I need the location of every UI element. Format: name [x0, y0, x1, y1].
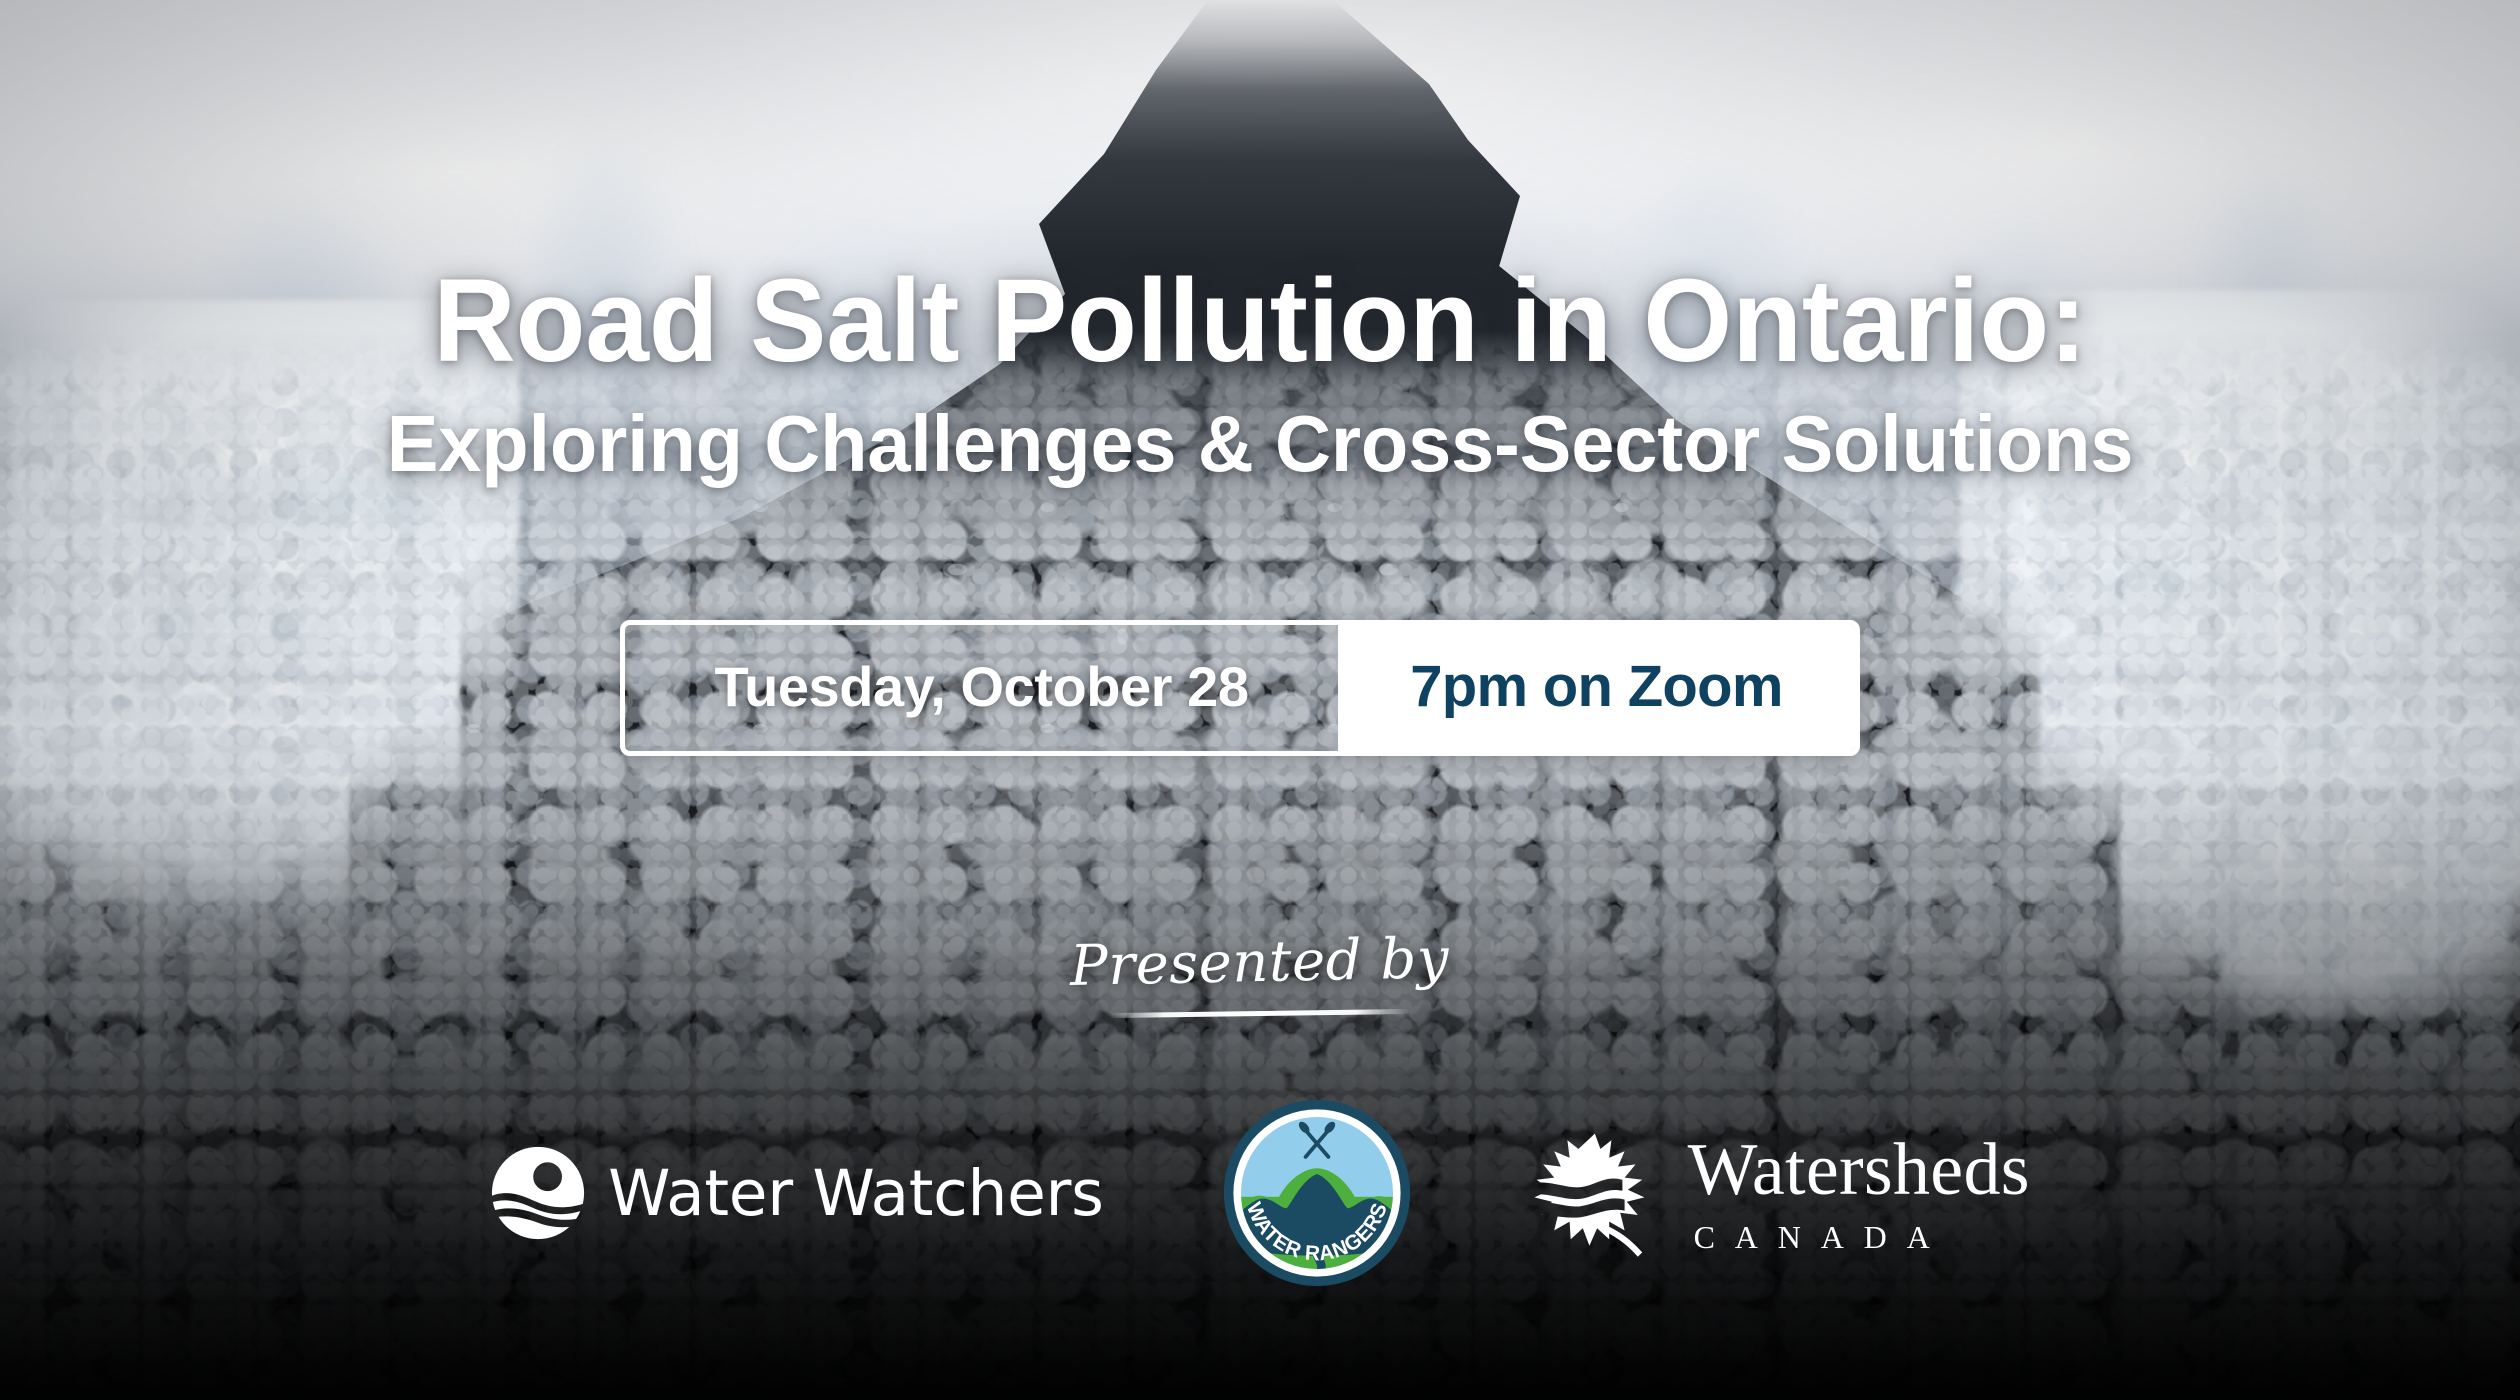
logo-watersheds-canada: Watersheds CANADA — [1530, 1127, 2030, 1259]
watersheds-canada-wordmark: Watersheds CANADA — [1688, 1133, 2030, 1253]
presented-by-block: Presented by — [0, 930, 2520, 1016]
logo-canada-label: CANADA — [1694, 1221, 1950, 1253]
watersheds-canada-maple-leaf-icon — [1530, 1127, 1662, 1259]
poster-content: Road Salt Pollution in Ontario: Explorin… — [0, 0, 2520, 1400]
event-time: 7pm on Zoom — [1338, 625, 1855, 751]
event-date: Tuesday, October 28 — [625, 625, 1338, 751]
headline-secondary: Exploring Challenges & Cross-Sector Solu… — [38, 404, 2482, 484]
logo-watersheds-label: Watersheds — [1688, 1133, 2030, 1207]
logo-water-watchers-label: Water Watchers — [608, 1157, 1103, 1230]
water-watchers-circle-wave-icon — [490, 1145, 586, 1241]
event-details-banner: Tuesday, October 28 7pm on Zoom — [620, 620, 1860, 756]
presented-by-underline — [1110, 1009, 1410, 1018]
partner-logos-row: Water Watchers — [0, 1098, 2520, 1288]
page-title: Road Salt Pollution in Ontario: Explorin… — [0, 262, 2520, 484]
headline-primary: Road Salt Pollution in Ontario: — [38, 262, 2482, 380]
presented-by-label: Presented by — [1070, 926, 1450, 999]
event-promo-poster: Road Salt Pollution in Ontario: Explorin… — [0, 0, 2520, 1400]
logo-water-watchers: Water Watchers — [490, 1145, 1103, 1241]
water-rangers-badge-icon: WATER RANGERS — [1222, 1098, 1412, 1288]
